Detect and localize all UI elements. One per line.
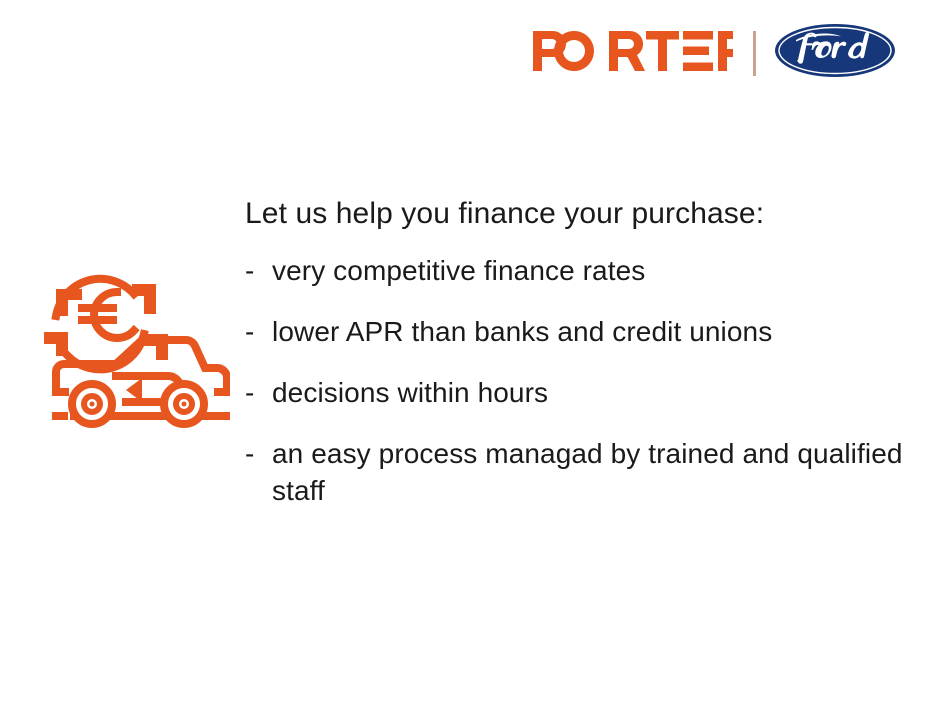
car-finance-euro-icon (44, 256, 230, 446)
ford-oval-logo (774, 23, 896, 83)
bullet-text: lower APR than banks and credit unions (272, 314, 905, 351)
bullet-marker: - (245, 436, 272, 473)
list-item: - decisions within hours (245, 375, 905, 412)
slide-headline: Let us help you finance your purchase: (245, 196, 905, 231)
bullet-marker: - (245, 375, 272, 412)
list-item: - an easy process managad by trained and… (245, 436, 905, 510)
bullet-text: an easy process managad by trained and q… (272, 436, 905, 510)
brand-logo-lockup (533, 22, 896, 84)
bullet-marker: - (245, 253, 272, 290)
list-item: - lower APR than banks and credit unions (245, 314, 905, 351)
benefits-list: - very competitive finance rates - lower… (245, 253, 905, 510)
logo-divider (753, 31, 756, 76)
list-item: - very competitive finance rates (245, 253, 905, 290)
porter-wordmark-logo (533, 33, 733, 73)
bullet-text: decisions within hours (272, 375, 905, 412)
presentation-slide: Let us help you finance your purchase: -… (0, 0, 938, 704)
bullet-marker: - (245, 314, 272, 351)
bullet-text: very competitive finance rates (272, 253, 905, 290)
slide-content: Let us help you finance your purchase: -… (245, 196, 905, 510)
